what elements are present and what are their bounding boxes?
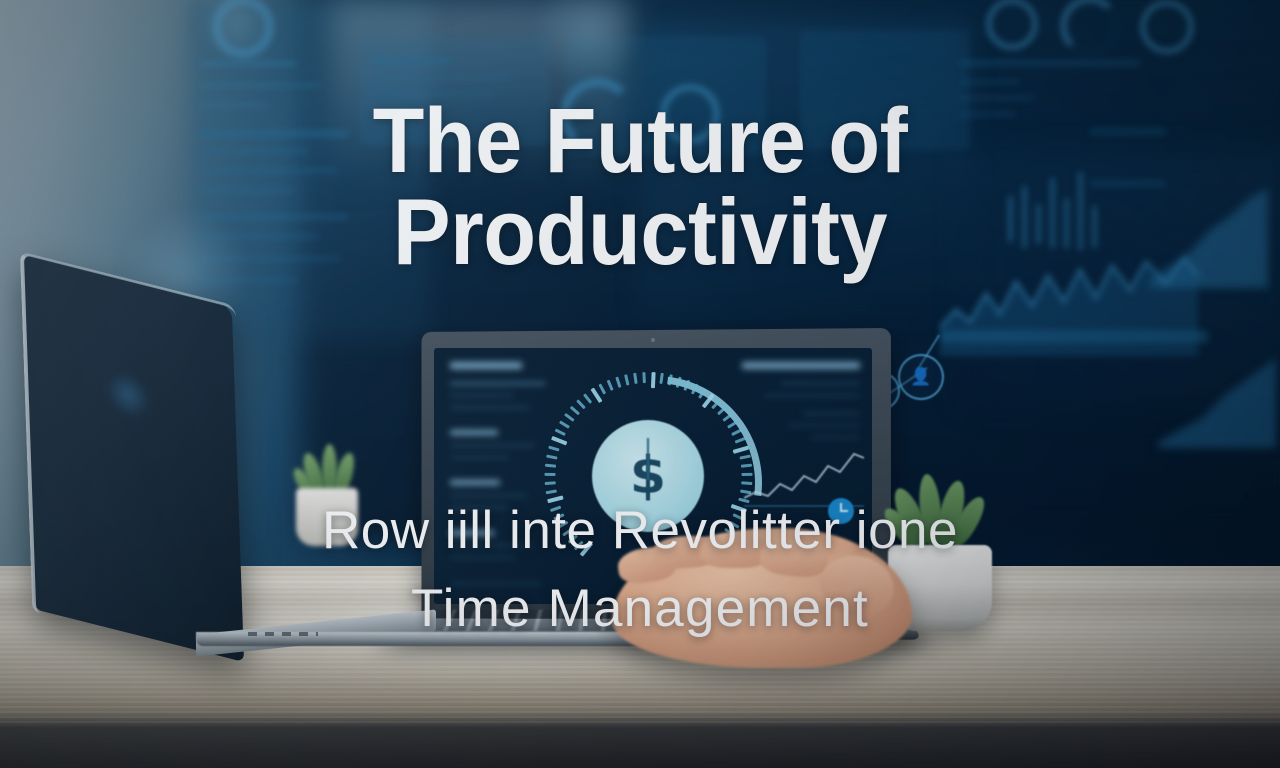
clock-icon bbox=[828, 498, 854, 524]
gauge-tick bbox=[633, 373, 637, 384]
gauge-tick bbox=[544, 473, 555, 476]
gauge-needle bbox=[647, 438, 649, 480]
laptop-ports bbox=[248, 632, 318, 636]
gauge-center-disc: $ bbox=[592, 420, 704, 532]
laptop-webcam-icon bbox=[651, 338, 655, 342]
user-node: 👤 bbox=[898, 354, 944, 400]
hero-image: AI 👤 AFA bbox=[0, 0, 1280, 768]
gauge-tick bbox=[642, 372, 645, 383]
gauge-tick bbox=[545, 464, 556, 468]
gauge-tick bbox=[651, 372, 656, 388]
